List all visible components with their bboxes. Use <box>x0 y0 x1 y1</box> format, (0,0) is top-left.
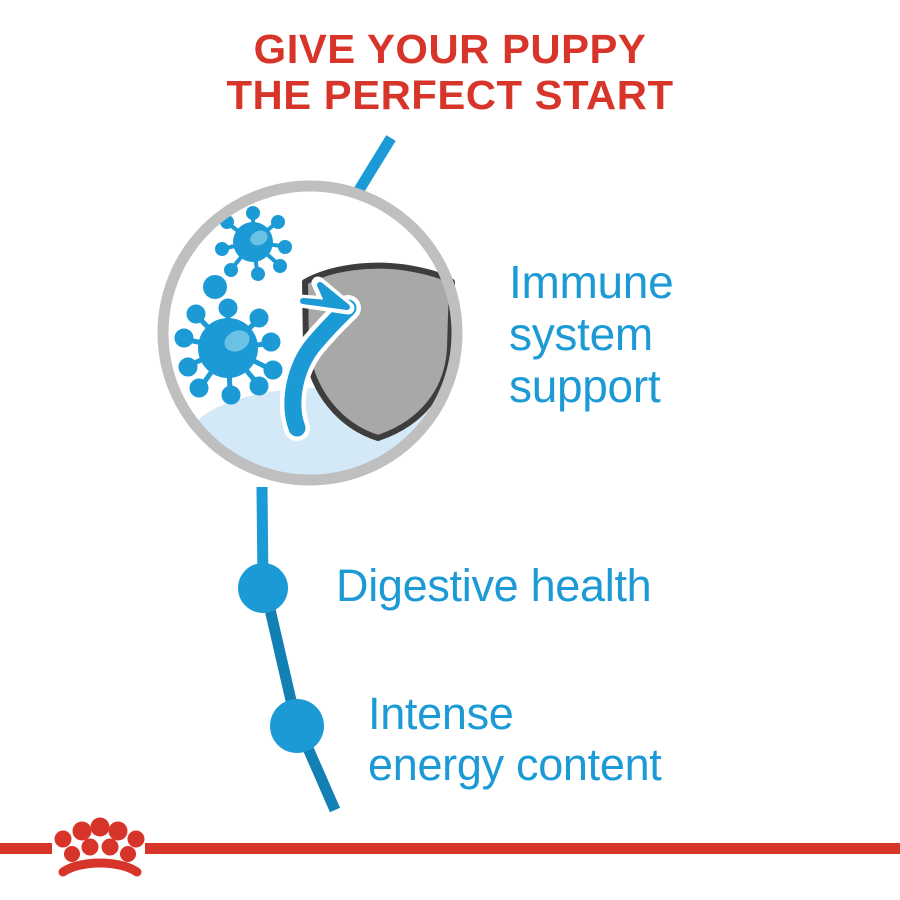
royal-canin-crown-logo <box>55 818 145 873</box>
red-rule-left <box>0 843 52 854</box>
footer-brand-bar <box>0 790 900 900</box>
benefit-label-energy: Intense energy content <box>368 688 662 790</box>
promo-infographic-page: GIVE YOUR PUPPY THE PERFECT START <box>0 0 900 900</box>
benefit-label-immune: Immune system support <box>509 256 673 412</box>
node-dot-icon-digestive[interactable] <box>238 563 288 613</box>
germ-icon-small <box>217 208 290 279</box>
germ-icon-large <box>177 301 280 402</box>
germ-dot-icon <box>203 275 227 299</box>
red-rule-right <box>145 843 900 854</box>
benefit-label-digestive: Digestive health <box>336 560 651 611</box>
node-dot-icon-energy[interactable] <box>270 699 324 753</box>
